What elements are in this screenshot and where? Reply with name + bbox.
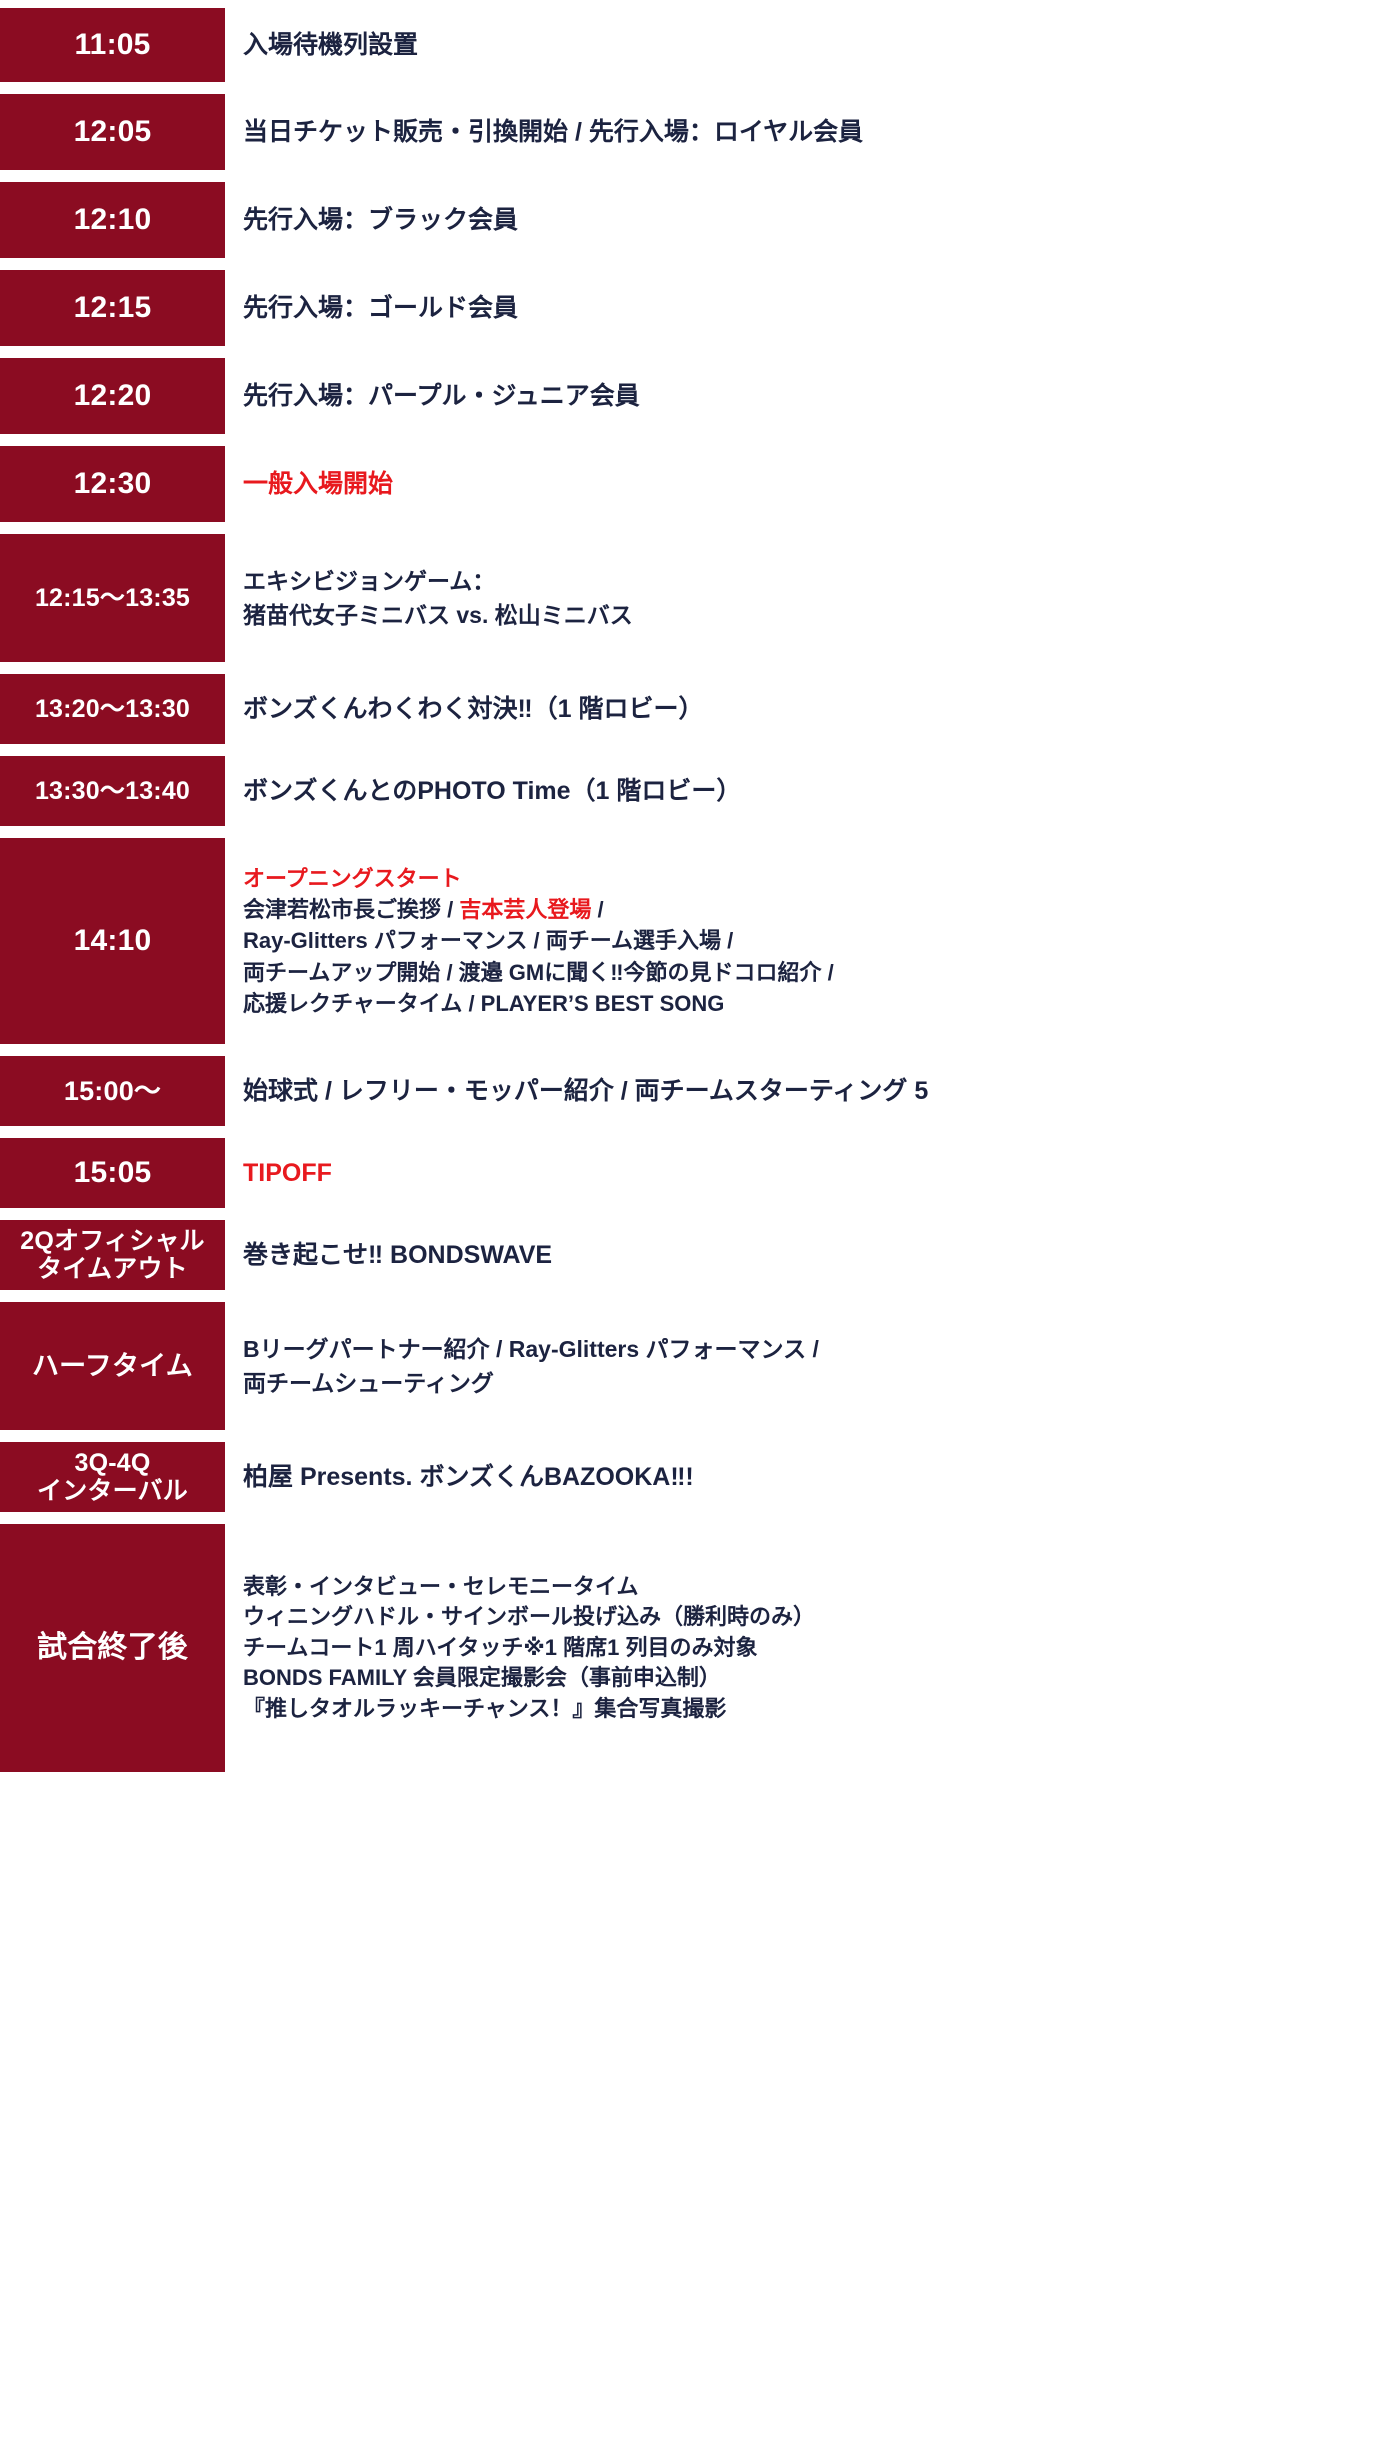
time-label-line: インターバル bbox=[37, 1477, 188, 1505]
event-description-line: Bリーグパートナー紹介 / Ray-Glitters パフォーマンス / bbox=[243, 1332, 1400, 1367]
row-spacer bbox=[0, 1430, 1400, 1442]
event-description-line: Ray-Glitters パフォーマンス / 両チーム選手入場 / bbox=[243, 925, 1400, 956]
body-text: ウィニングハドル・サインボール投げ込み（勝利時のみ） bbox=[243, 1604, 815, 1629]
highlight-text: 一般入場開始 bbox=[243, 470, 393, 498]
schedule-row: 12:20先行入場：パープル・ジュニア会員 bbox=[0, 358, 1400, 434]
time-label-line: 12:15 bbox=[74, 291, 152, 325]
time-label: 試合終了後 bbox=[0, 1524, 225, 1772]
timetable-sheet: 11:05入場待機列設置12:05当日チケット販売・引換開始 / 先行入場：ロイ… bbox=[0, 0, 1400, 2461]
event-description-line: エキシビジョンゲーム： bbox=[243, 564, 1400, 599]
time-label: 2Qオフィシャルタイムアウト bbox=[0, 1220, 225, 1290]
row-spacer bbox=[0, 1290, 1400, 1302]
event-description-line: 表彰・インタビュー・セレモニータイム bbox=[243, 1572, 1400, 1602]
event-description-line: 柏屋 Presents. ボンズくんBAZOOKA‼! bbox=[243, 1458, 1400, 1497]
event-description: 柏屋 Presents. ボンズくんBAZOOKA‼! bbox=[225, 1442, 1400, 1512]
body-text: Ray-Glitters パフォーマンス / 両チーム選手入場 / bbox=[243, 928, 733, 953]
event-description: TIPOFF bbox=[225, 1138, 1400, 1208]
event-description: 当日チケット販売・引換開始 / 先行入場：ロイヤル会員 bbox=[225, 94, 1400, 170]
event-description-line: 当日チケット販売・引換開始 / 先行入場：ロイヤル会員 bbox=[243, 113, 1400, 152]
event-description-line: ボンズくんとのPHOTO Time（1 階ロビー） bbox=[243, 772, 1400, 811]
time-label-line: 15:05 bbox=[74, 1156, 152, 1190]
row-spacer bbox=[0, 346, 1400, 358]
event-description-line: TIPOFF bbox=[243, 1154, 1400, 1193]
schedule-row: 15:05TIPOFF bbox=[0, 1138, 1400, 1208]
event-description: オープニングスタート会津若松市長ご挨拶 / 吉本芸人登場 /Ray-Glitte… bbox=[225, 838, 1400, 1044]
time-label-line: 13:20〜13:30 bbox=[35, 695, 190, 723]
time-label-line: 13:30〜13:40 bbox=[35, 777, 190, 805]
event-description-line: オープニングスタート bbox=[243, 863, 1400, 894]
body-text: / bbox=[591, 897, 603, 922]
body-text: 先行入場：パープル・ジュニア会員 bbox=[243, 382, 640, 410]
body-text: 当日チケット販売・引換開始 / 先行入場：ロイヤル会員 bbox=[243, 118, 863, 146]
row-spacer bbox=[0, 1208, 1400, 1220]
schedule-row: 試合終了後表彰・インタビュー・セレモニータイムウィニングハドル・サインボール投げ… bbox=[0, 1524, 1400, 1772]
event-description: エキシビジョンゲーム：猪苗代女子ミニバス vs. 松山ミニバス bbox=[225, 534, 1400, 662]
event-description-line: 先行入場：ゴールド会員 bbox=[243, 289, 1400, 328]
time-label: 12:15〜13:35 bbox=[0, 534, 225, 662]
schedule-row: ハーフタイムBリーグパートナー紹介 / Ray-Glitters パフォーマンス… bbox=[0, 1302, 1400, 1430]
time-label-line: ハーフタイム bbox=[32, 1351, 193, 1381]
time-label: 11:05 bbox=[0, 8, 225, 82]
schedule-row: 13:20〜13:30ボンズくんわくわく対決‼（1 階ロビー） bbox=[0, 674, 1400, 744]
body-text: Bリーグパートナー紹介 / Ray-Glitters パフォーマンス / bbox=[243, 1336, 819, 1362]
schedule-row: 12:15先行入場：ゴールド会員 bbox=[0, 270, 1400, 346]
time-label-line: 3Q-4Q bbox=[37, 1449, 188, 1477]
event-description-line: 先行入場：ブラック会員 bbox=[243, 201, 1400, 240]
schedule-row: 3Q-4Qインターバル柏屋 Presents. ボンズくんBAZOOKA‼! bbox=[0, 1442, 1400, 1512]
time-label: 14:10 bbox=[0, 838, 225, 1044]
event-description-line: 先行入場：パープル・ジュニア会員 bbox=[243, 377, 1400, 416]
schedule-row: 15:00〜始球式 / レフリー・モッパー紹介 / 両チームスターティング 5 bbox=[0, 1056, 1400, 1126]
event-description: Bリーグパートナー紹介 / Ray-Glitters パフォーマンス /両チーム… bbox=[225, 1302, 1400, 1430]
time-label: 12:15 bbox=[0, 270, 225, 346]
time-label: 13:30〜13:40 bbox=[0, 756, 225, 826]
event-description: ボンズくんわくわく対決‼（1 階ロビー） bbox=[225, 674, 1400, 744]
event-description-line: 始球式 / レフリー・モッパー紹介 / 両チームスターティング 5 bbox=[243, 1072, 1400, 1111]
time-label-line: 試合終了後 bbox=[37, 1631, 188, 1665]
event-description-line: 会津若松市長ご挨拶 / 吉本芸人登場 / bbox=[243, 894, 1400, 925]
row-spacer bbox=[0, 826, 1400, 838]
body-text: 柏屋 Presents. ボンズくんBAZOOKA‼! bbox=[243, 1463, 694, 1491]
time-label-line: タイムアウト bbox=[20, 1255, 204, 1283]
body-text: 始球式 / レフリー・モッパー紹介 / 両チームスターティング 5 bbox=[243, 1077, 928, 1105]
body-text: エキシビジョンゲーム： bbox=[243, 568, 495, 594]
body-text: 表彰・インタビュー・セレモニータイム bbox=[243, 1574, 639, 1599]
schedule-row: 13:30〜13:40ボンズくんとのPHOTO Time（1 階ロビー） bbox=[0, 756, 1400, 826]
time-label-line: 12:30 bbox=[74, 467, 152, 501]
time-label: 12:10 bbox=[0, 182, 225, 258]
time-label: 12:30 bbox=[0, 446, 225, 522]
event-description-line: 猪苗代女子ミニバス vs. 松山ミニバス bbox=[243, 598, 1400, 633]
row-spacer bbox=[0, 82, 1400, 94]
highlight-text: オープニングスタート bbox=[243, 866, 462, 891]
time-label: 15:05 bbox=[0, 1138, 225, 1208]
schedule-row: 2Qオフィシャルタイムアウト巻き起こせ‼ BONDSWAVE bbox=[0, 1220, 1400, 1290]
top-spacer bbox=[0, 0, 1400, 8]
row-spacer bbox=[0, 1512, 1400, 1524]
body-text: 応援レクチャータイム / PLAYER’S BEST SONG bbox=[243, 991, 724, 1016]
time-label: 12:05 bbox=[0, 94, 225, 170]
event-description: ボンズくんとのPHOTO Time（1 階ロビー） bbox=[225, 756, 1400, 826]
event-description: 始球式 / レフリー・モッパー紹介 / 両チームスターティング 5 bbox=[225, 1056, 1400, 1126]
event-description-line: ウィニングハドル・サインボール投げ込み（勝利時のみ） bbox=[243, 1602, 1400, 1632]
event-description-line: 入場待機列設置 bbox=[243, 26, 1400, 65]
event-description-line: 一般入場開始 bbox=[243, 465, 1400, 504]
event-description-line: チームコート1 周ハイタッチ※1 階席1 列目のみ対象 bbox=[243, 1633, 1400, 1663]
event-description-line: 巻き起こせ‼ BONDSWAVE bbox=[243, 1236, 1400, 1275]
row-spacer bbox=[0, 1044, 1400, 1056]
highlight-text: 吉本芸人登場 bbox=[459, 897, 591, 922]
time-label-line: 12:05 bbox=[74, 115, 152, 149]
event-description: 巻き起こせ‼ BONDSWAVE bbox=[225, 1220, 1400, 1290]
schedule-row: 12:15〜13:35エキシビジョンゲーム：猪苗代女子ミニバス vs. 松山ミニ… bbox=[0, 534, 1400, 662]
highlight-text: TIPOFF bbox=[243, 1159, 332, 1187]
time-label: 13:20〜13:30 bbox=[0, 674, 225, 744]
event-description-line: 両チームシューティング bbox=[243, 1366, 1400, 1401]
time-label-line: 15:00〜 bbox=[64, 1076, 161, 1106]
event-description-line: 両チームアップ開始 / 渡邉 GMに聞く‼今節の見ドコロ紹介 / bbox=[243, 957, 1400, 988]
event-description-line: 応援レクチャータイム / PLAYER’S BEST SONG bbox=[243, 988, 1400, 1019]
event-description: 先行入場：ゴールド会員 bbox=[225, 270, 1400, 346]
schedule-row: 11:05入場待機列設置 bbox=[0, 8, 1400, 82]
row-spacer bbox=[0, 522, 1400, 534]
event-description: 一般入場開始 bbox=[225, 446, 1400, 522]
row-spacer bbox=[0, 744, 1400, 756]
schedule-row: 12:30一般入場開始 bbox=[0, 446, 1400, 522]
body-text: 巻き起こせ‼ BONDSWAVE bbox=[243, 1241, 552, 1269]
body-text: 『推しタオルラッキーチャンス！』集合写真撮影 bbox=[243, 1696, 726, 1721]
time-label: ハーフタイム bbox=[0, 1302, 225, 1430]
body-text: 先行入場：ゴールド会員 bbox=[243, 294, 518, 322]
row-spacer bbox=[0, 662, 1400, 674]
event-description: 表彰・インタビュー・セレモニータイムウィニングハドル・サインボール投げ込み（勝利… bbox=[225, 1524, 1400, 1772]
row-spacer bbox=[0, 258, 1400, 270]
row-spacer bbox=[0, 1126, 1400, 1138]
body-text: 入場待機列設置 bbox=[243, 31, 418, 59]
event-description-line: ボンズくんわくわく対決‼（1 階ロビー） bbox=[243, 690, 1400, 729]
time-label-line: 12:20 bbox=[74, 379, 152, 413]
time-label: 12:20 bbox=[0, 358, 225, 434]
event-description-line: BONDS FAMILY 会員限定撮影会（事前申込制） bbox=[243, 1663, 1400, 1693]
event-description: 先行入場：パープル・ジュニア会員 bbox=[225, 358, 1400, 434]
time-label: 15:00〜 bbox=[0, 1056, 225, 1126]
event-description: 先行入場：ブラック会員 bbox=[225, 182, 1400, 258]
time-label-line: 12:10 bbox=[74, 203, 152, 237]
body-text: チームコート1 周ハイタッチ※1 階席1 列目のみ対象 bbox=[243, 1635, 757, 1660]
time-label: 3Q-4Qインターバル bbox=[0, 1442, 225, 1512]
body-text: 両チームシューティング bbox=[243, 1370, 494, 1396]
event-description-line: 『推しタオルラッキーチャンス！』集合写真撮影 bbox=[243, 1694, 1400, 1724]
time-label-line: 14:10 bbox=[74, 924, 152, 958]
time-label-line: 12:15〜13:35 bbox=[35, 584, 190, 612]
time-label-line: 11:05 bbox=[74, 28, 150, 62]
row-spacer bbox=[0, 170, 1400, 182]
schedule-row: 14:10オープニングスタート会津若松市長ご挨拶 / 吉本芸人登場 /Ray-G… bbox=[0, 838, 1400, 1044]
body-text: 先行入場：ブラック会員 bbox=[243, 206, 518, 234]
body-text: 猪苗代女子ミニバス vs. 松山ミニバス bbox=[243, 602, 633, 628]
body-text: ボンズくんわくわく対決‼（1 階ロビー） bbox=[243, 695, 703, 723]
schedule-row: 12:05当日チケット販売・引換開始 / 先行入場：ロイヤル会員 bbox=[0, 94, 1400, 170]
body-text: 会津若松市長ご挨拶 / bbox=[243, 897, 459, 922]
body-text: ボンズくんとのPHOTO Time（1 階ロビー） bbox=[243, 777, 741, 805]
body-text: 両チームアップ開始 / 渡邉 GMに聞く‼今節の見ドコロ紹介 / bbox=[243, 960, 834, 985]
row-spacer bbox=[0, 434, 1400, 446]
time-label-line: 2Qオフィシャル bbox=[20, 1227, 204, 1255]
schedule-row: 12:10先行入場：ブラック会員 bbox=[0, 182, 1400, 258]
body-text: BONDS FAMILY 会員限定撮影会（事前申込制） bbox=[243, 1665, 721, 1690]
event-description: 入場待機列設置 bbox=[225, 8, 1400, 82]
